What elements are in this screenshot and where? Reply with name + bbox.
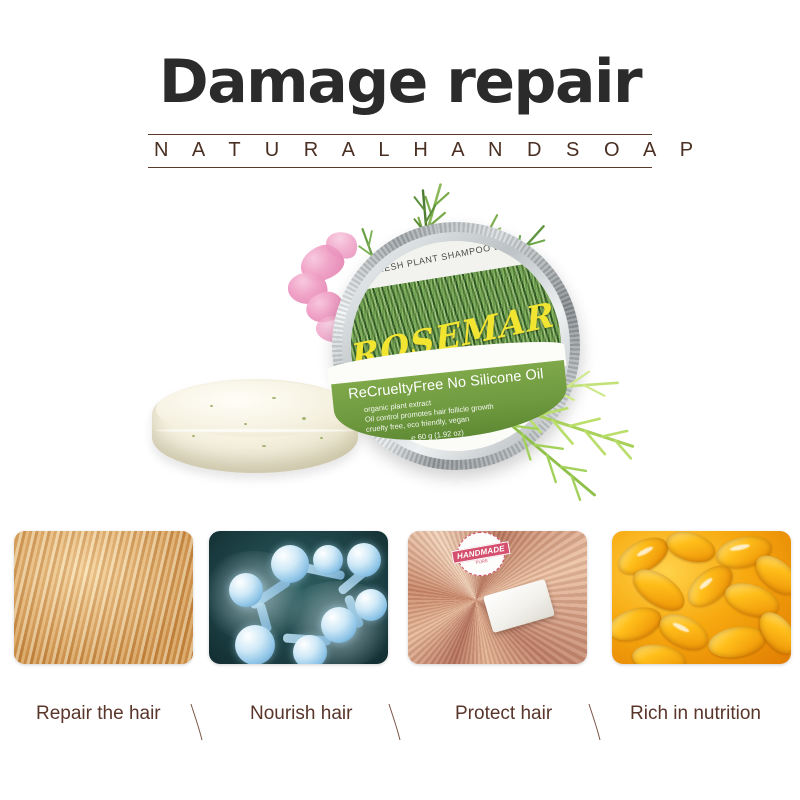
subtitle-block: N A T U R A L H A N D S O A P [148, 134, 652, 168]
product-marketing-image: Damage repair N A T U R A L H A N D S O … [0, 0, 800, 800]
feature-thumbnail-nutrition[interactable] [612, 531, 791, 664]
hero-product-scene: FRESH PLANT SHAMPOO BAR ROSEMARY ROSEMAR… [0, 168, 800, 518]
feature-caption-nourish: Nourish hair [250, 700, 352, 728]
caption-divider [190, 702, 204, 742]
ice-molecule-image [209, 531, 388, 664]
feature-thumbnail-nourish[interactable] [209, 531, 388, 664]
golden-hair-strands-image [14, 531, 193, 664]
caption-divider [388, 702, 402, 742]
subtitle: N A T U R A L H A N D S O A P [148, 135, 652, 167]
net-weight: ℮ 60 g (1.92 oz) [411, 428, 465, 442]
feature-caption-protect: Protect hair [455, 700, 552, 728]
caption-divider [588, 702, 602, 742]
feature-thumbnail-row [0, 525, 800, 675]
vitamin-capsules-image [612, 531, 791, 664]
feature-caption-nutrition: Rich in nutrition [630, 700, 761, 728]
handmade-stamp-badge: HANDMADE PURE [450, 527, 513, 581]
feature-caption-repair: Repair the hair [36, 700, 161, 728]
page-title: Damage repair [0, 52, 800, 112]
feature-thumbnail-repair[interactable] [14, 531, 193, 664]
feature-caption-row: Repair the hair Nourish hair Protect hai… [0, 700, 800, 748]
